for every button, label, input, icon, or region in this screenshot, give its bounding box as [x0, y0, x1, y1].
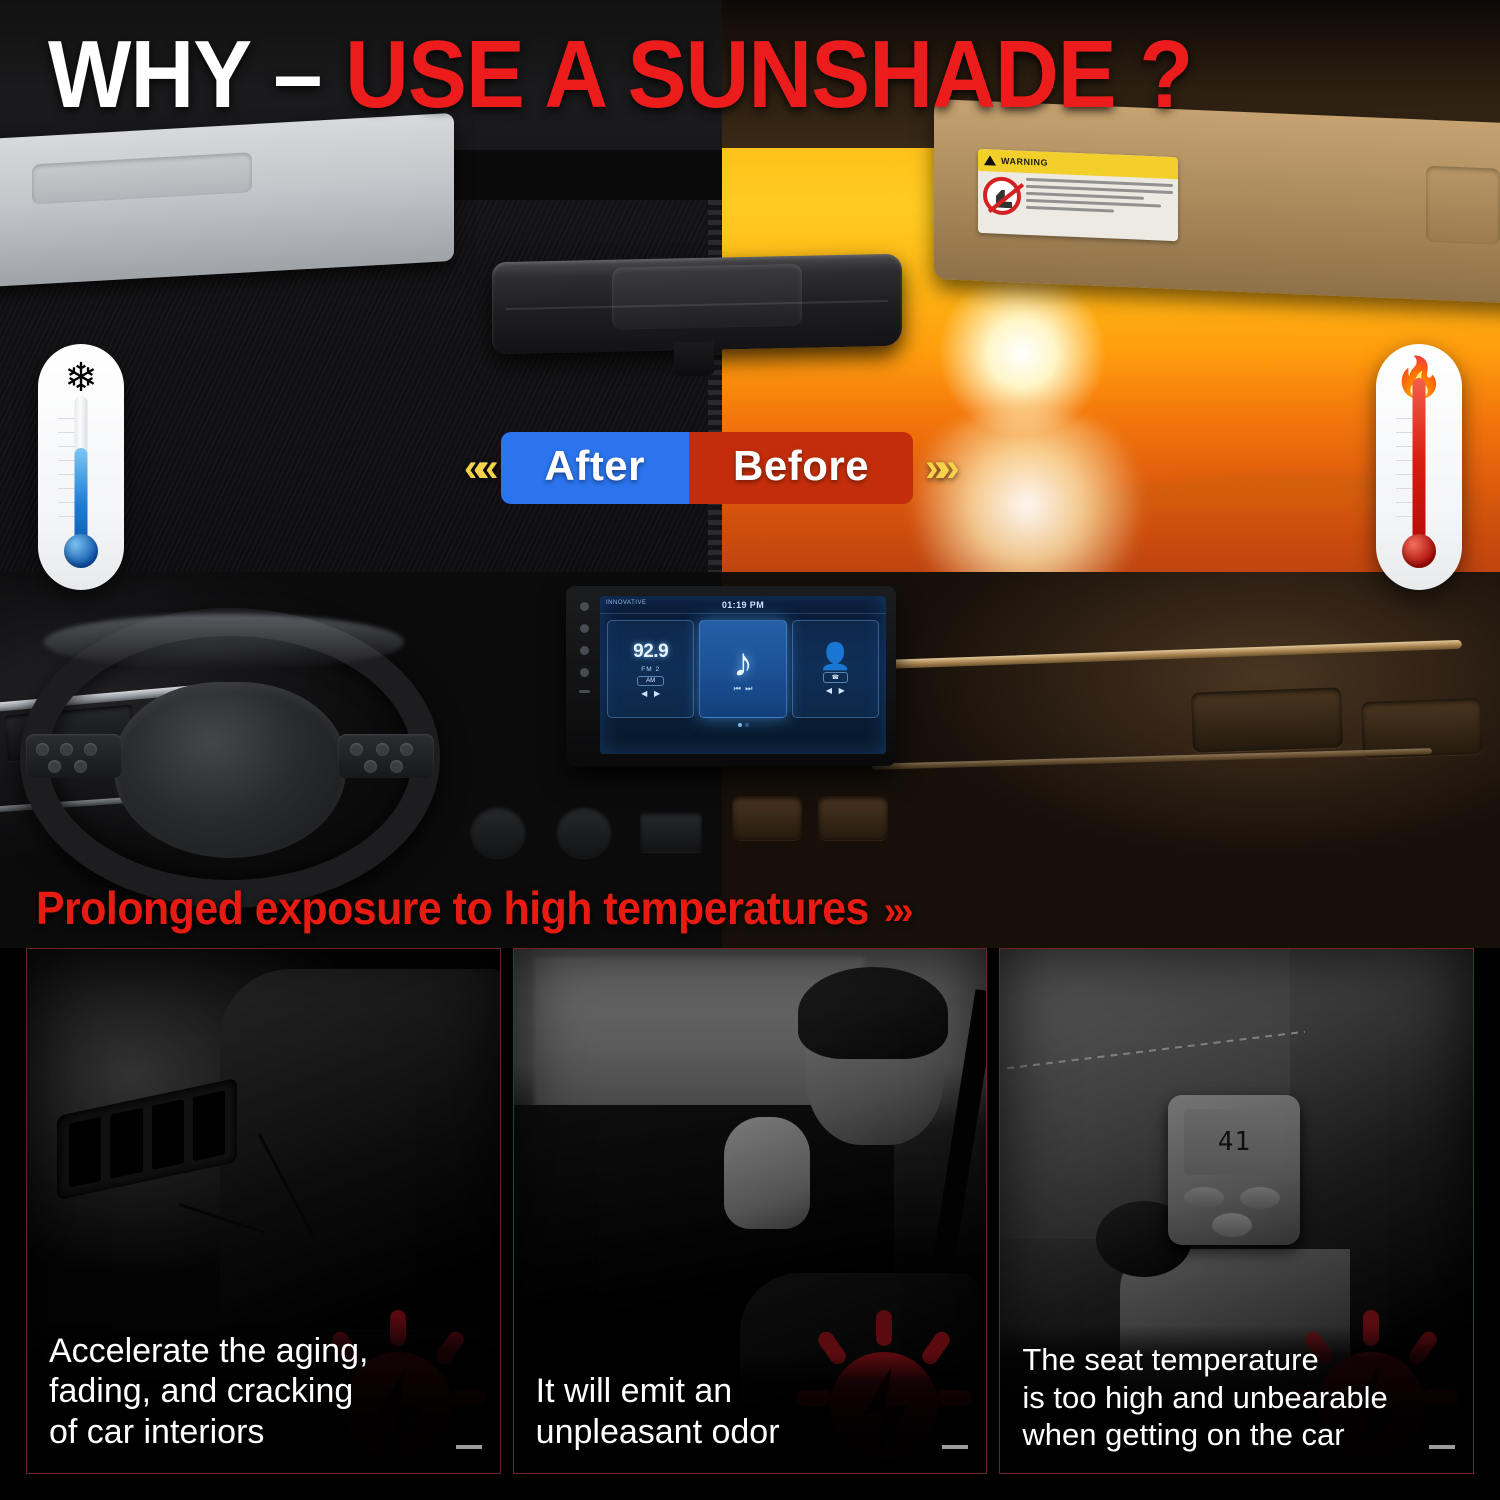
- profile-tile[interactable]: 👤 ☎ ◀ ▶: [792, 620, 879, 718]
- subtitle-text: Prolonged exposure to high temperatures: [36, 882, 869, 934]
- infrared-thermometer-gun: 41: [1168, 1095, 1300, 1245]
- title-white-part: WHY –: [48, 21, 322, 128]
- warning-label-text-lines: [1026, 178, 1173, 222]
- consequences-panels: Accelerate the aging, fading, and cracki…: [0, 948, 1500, 1500]
- panel-seat-temperature: 41 The seat: [999, 948, 1474, 1474]
- defroster-vent: [57, 1078, 237, 1200]
- before-after-toggle[interactable]: «« After Before »»: [452, 432, 962, 504]
- infographic-root: WARNING: [0, 0, 1500, 1500]
- caption-dash: [942, 1445, 968, 1449]
- caption-line: fading, and cracking: [49, 1371, 482, 1412]
- cold-thermometer: ❄: [38, 344, 124, 590]
- hot-thermometer: 🔥: [1376, 344, 1462, 590]
- before-after-hero: WARNING: [0, 0, 1500, 948]
- wheel-button: [390, 760, 403, 773]
- head-unit-button-nav[interactable]: [580, 668, 589, 677]
- caption-line: The seat temperature: [1022, 1341, 1455, 1378]
- head-unit-button-menu[interactable]: [579, 690, 590, 693]
- page-indicator-dots[interactable]: [600, 723, 886, 727]
- infotainment-head-unit[interactable]: INNOVATIVE 01:19 PM 92.9 FM 2 AM ◀ ▶ ♪ ⏮…: [566, 586, 896, 766]
- page-title: WHY – USE A SUNSHADE ?: [48, 27, 1192, 123]
- wheel-button: [376, 743, 389, 756]
- airbag-hub: [114, 682, 346, 858]
- panel-interior-aging: Accelerate the aging, fading, and cracki…: [26, 948, 501, 1474]
- wheel-button: [364, 760, 377, 773]
- steering-control-right: [338, 734, 434, 778]
- wheel-button: [400, 743, 413, 756]
- snowflake-icon: ❄: [38, 358, 124, 398]
- wheel-button: [36, 743, 49, 756]
- title-bar: WHY – USE A SUNSHADE ?: [0, 0, 1500, 150]
- rearview-mirror: [492, 254, 902, 355]
- head-unit-status-bar: INNOVATIVE 01:19 PM: [600, 596, 886, 614]
- wheel-button: [84, 743, 97, 756]
- wheel-button: [48, 760, 61, 773]
- panel-unpleasant-odor: It will emit an unpleasant odor: [513, 948, 988, 1474]
- radio-band: FM 2: [641, 666, 660, 673]
- caption-line: Accelerate the aging,: [49, 1331, 482, 1372]
- radio-tile[interactable]: 92.9 FM 2 AM ◀ ▶: [607, 620, 694, 718]
- climate-knob-2: [556, 806, 612, 858]
- radio-seek-controls[interactable]: ◀ ▶: [641, 689, 660, 698]
- page-dot[interactable]: [745, 723, 749, 727]
- caption-line: unpleasant odor: [536, 1412, 969, 1453]
- warning-triangle-icon: [984, 155, 996, 166]
- head-unit-brand: INNOVATIVE: [606, 600, 646, 606]
- airbag-warning-label: WARNING: [978, 149, 1178, 241]
- thermometer-level-cold: [75, 448, 88, 540]
- warning-label-body: [978, 171, 1178, 227]
- profile-nav-controls[interactable]: ◀ ▶: [826, 686, 845, 695]
- person-hand: [724, 1117, 810, 1229]
- person-hair: [798, 967, 948, 1059]
- seat-shape: [220, 969, 501, 1329]
- caption-line: when getting on the car: [1022, 1416, 1455, 1453]
- head-unit-button-power[interactable]: [580, 602, 589, 611]
- steering-wheel-highlight: [44, 614, 404, 670]
- wheel-button: [60, 743, 73, 756]
- head-unit-screen[interactable]: INNOVATIVE 01:19 PM 92.9 FM 2 AM ◀ ▶ ♪ ⏮…: [600, 596, 886, 754]
- thermometer-trigger-button[interactable]: [1212, 1213, 1252, 1237]
- media-transport-controls[interactable]: ⏮ ⏭: [734, 684, 753, 694]
- title-red-part: USE A SUNSHADE ?: [345, 21, 1192, 128]
- warning-label-heading: WARNING: [1001, 156, 1048, 168]
- phone-icon[interactable]: ☎: [823, 672, 848, 683]
- head-unit-button-media[interactable]: [580, 646, 589, 655]
- thermometer-bulb-cold: [64, 534, 98, 568]
- wheel-button: [74, 760, 87, 773]
- thermometer-reading: 41: [1218, 1127, 1251, 1157]
- head-unit-clock: 01:19 PM: [722, 600, 764, 610]
- mirror-stem: [674, 342, 714, 377]
- no-rear-facing-child-seat-icon: [983, 176, 1021, 216]
- head-unit-side-buttons[interactable]: [574, 602, 594, 693]
- visor-grip-left: [32, 152, 252, 204]
- radio-frequency: 92.9: [633, 641, 668, 663]
- person-icon: 👤: [819, 643, 851, 669]
- console-button-right-2: [818, 796, 888, 840]
- subtitle-arrows-icon: ›››: [884, 889, 910, 933]
- media-tile[interactable]: ♪ ⏮ ⏭: [699, 620, 786, 718]
- caption-line: of car interiors: [49, 1412, 482, 1453]
- thermometer-button-right[interactable]: [1240, 1187, 1280, 1209]
- visor-grip-right: [1426, 166, 1500, 245]
- page-dot-active[interactable]: [738, 723, 742, 727]
- center-console-button-left: [640, 812, 702, 852]
- before-badge[interactable]: Before: [689, 432, 913, 504]
- panel-caption: The seat temperature is too high and unb…: [1000, 1325, 1473, 1473]
- steering-control-left: [26, 734, 122, 778]
- thermometer-button-left[interactable]: [1184, 1187, 1224, 1209]
- head-unit-button-home[interactable]: [580, 624, 589, 633]
- chevron-right-icon: »»: [913, 446, 962, 491]
- thermometer-lcd: 41: [1184, 1109, 1284, 1175]
- after-badge[interactable]: After: [501, 432, 690, 504]
- wheel-button: [350, 743, 363, 756]
- head-unit-tiles: 92.9 FM 2 AM ◀ ▶ ♪ ⏮ ⏭ 👤 ☎ ◀ ▶: [600, 614, 886, 718]
- air-vent-right: [1191, 687, 1343, 752]
- mirror-housing: [612, 264, 802, 330]
- caption-dash: [1429, 1445, 1455, 1449]
- caption-line: It will emit an: [536, 1371, 969, 1412]
- panel-caption: Accelerate the aging, fading, and cracki…: [27, 1315, 500, 1473]
- subtitle: Prolonged exposure to high temperatures›…: [36, 881, 910, 935]
- chevron-left-icon: ««: [452, 446, 501, 491]
- radio-preset-button[interactable]: AM: [637, 676, 664, 686]
- panel-caption: It will emit an unpleasant odor: [514, 1355, 987, 1473]
- subtitle-band: Prolonged exposure to high temperatures›…: [0, 868, 1500, 948]
- console-button-right: [732, 796, 802, 840]
- music-note-icon: ♪: [733, 645, 753, 681]
- steering-wheel: [20, 608, 440, 908]
- thermometer-level-hot: [1413, 378, 1426, 540]
- child-seat-glyph: [996, 190, 1012, 209]
- climate-knob-1: [470, 806, 526, 858]
- caption-line: is too high and unbearable: [1022, 1379, 1455, 1416]
- thermometer-bulb-hot: [1402, 534, 1436, 568]
- caption-dash: [456, 1445, 482, 1449]
